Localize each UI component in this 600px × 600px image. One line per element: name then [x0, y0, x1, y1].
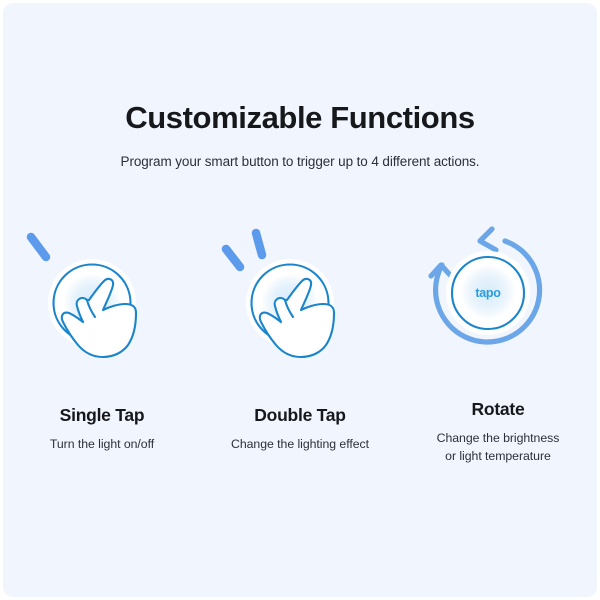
panel-description-line-2: or light temperature: [445, 449, 551, 463]
panel-title: Double Tap: [254, 405, 345, 426]
feature-panels: tapo Single Tap Turn the light on/off: [3, 221, 597, 466]
panel-title: Single Tap: [60, 405, 145, 426]
tap-mark-double: [226, 233, 262, 267]
panel-description: Turn the light on/off: [50, 436, 154, 454]
panel-double-tap: tapo Double Tap Change the lighting effe…: [206, 221, 394, 454]
page-card: Customizable Functions Program your smar…: [3, 3, 597, 597]
smart-button: tapo: [446, 251, 530, 335]
panel-description-line-1: Change the brightness: [437, 431, 560, 445]
tap-mark-single: [31, 237, 46, 257]
panel-description: Change the lighting effect: [231, 436, 369, 454]
page-title: Customizable Functions: [3, 101, 597, 135]
panel-title: Rotate: [472, 399, 525, 420]
page-subtitle: Program your smart button to trigger up …: [3, 135, 597, 169]
panel-single-tap: tapo Single Tap Turn the light on/off: [8, 221, 196, 454]
header: Customizable Functions Program your smar…: [3, 101, 597, 169]
rotate-arrows-icon: tapo: [404, 221, 592, 391]
panel-description: Change the brightness or light temperatu…: [437, 430, 560, 466]
hand-tap-icon: tapo: [8, 221, 196, 391]
panel-rotate: tapo Rotate Change the brightness or lig…: [404, 221, 592, 466]
hand-double-tap-icon: tapo: [206, 221, 394, 391]
tapo-logo-text: tapo: [475, 286, 501, 300]
